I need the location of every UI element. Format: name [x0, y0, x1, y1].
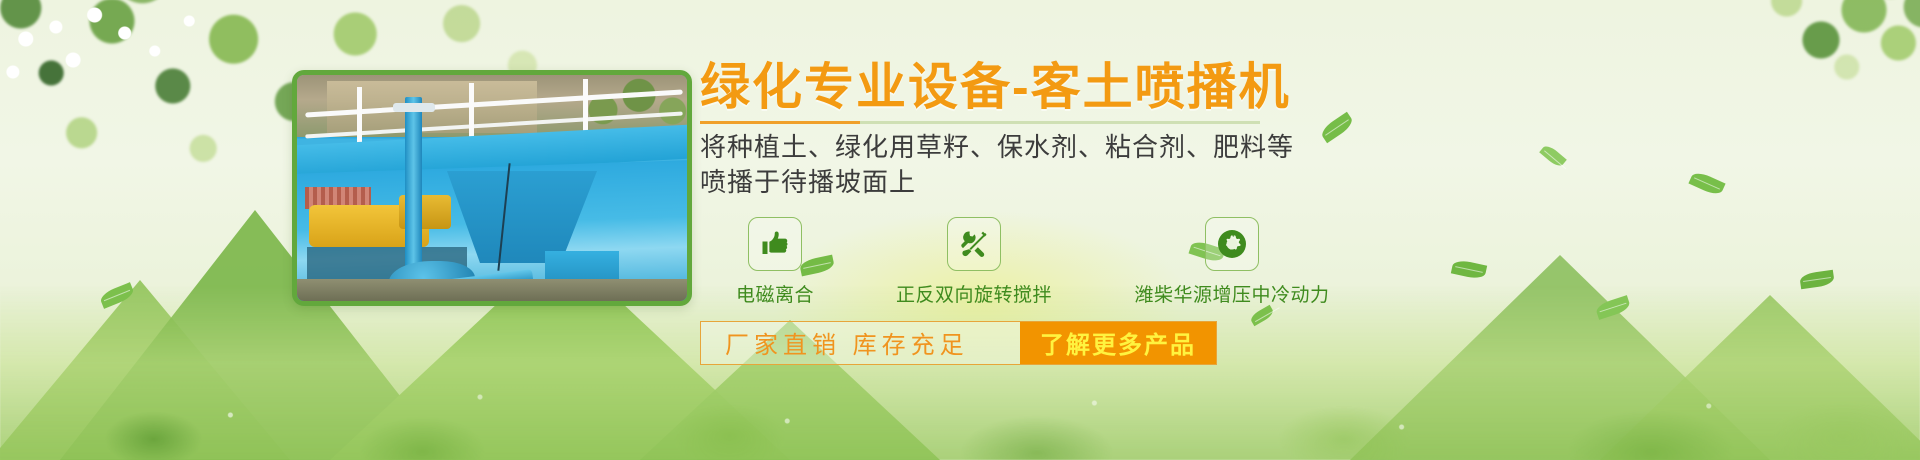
banner-subtitle-line-1: 将种植土、绿化用草籽、保水剂、粘合剂、肥料等 [700, 130, 1880, 165]
feature-item-bidirectional-mixing: 正反双向旋转搅拌 [864, 217, 1084, 307]
banner-subtitle-line-2: 喷播于待播坡面上 [700, 165, 1880, 200]
photo-column-flange [393, 103, 435, 112]
photo-ground [297, 279, 687, 301]
photo-blue-column [405, 97, 422, 272]
feature-label: 电磁离合 [736, 280, 814, 307]
title-divider [700, 121, 1260, 124]
promo-banner: 绿化专业设备-客土喷播机 将种植土、绿化用草籽、保水剂、粘合剂、肥料等 喷播于待… [0, 0, 1920, 460]
feature-item-electromagnetic-clutch: 电磁离合 [700, 217, 850, 307]
learn-more-button[interactable]: 了解更多产品 [1020, 322, 1216, 364]
photo-rail-post [469, 83, 474, 141]
gear-ring-icon [1205, 217, 1259, 271]
product-photo-image [297, 75, 687, 301]
feature-list: 电磁离合 正反双向旋转搅拌 [700, 217, 1880, 307]
banner-title: 绿化专业设备-客土喷播机 [700, 60, 1880, 114]
cta-bar: 厂家直销 库存充足 了解更多产品 [700, 321, 1217, 365]
tools-icon [947, 217, 1001, 271]
banner-content: 绿化专业设备-客土喷播机 将种植土、绿化用草籽、保水剂、粘合剂、肥料等 喷播于待… [700, 60, 1880, 365]
feature-item-engine-power: 潍柴华源增压中冷动力 [1102, 217, 1362, 307]
thumbs-up-icon [748, 217, 802, 271]
feature-label: 潍柴华源增压中冷动力 [1134, 280, 1329, 307]
photo-rail-post [357, 87, 362, 143]
feature-label: 正反双向旋转搅拌 [896, 280, 1052, 307]
cta-slogan: 厂家直销 库存充足 [701, 322, 993, 364]
product-photo[interactable] [292, 70, 692, 306]
